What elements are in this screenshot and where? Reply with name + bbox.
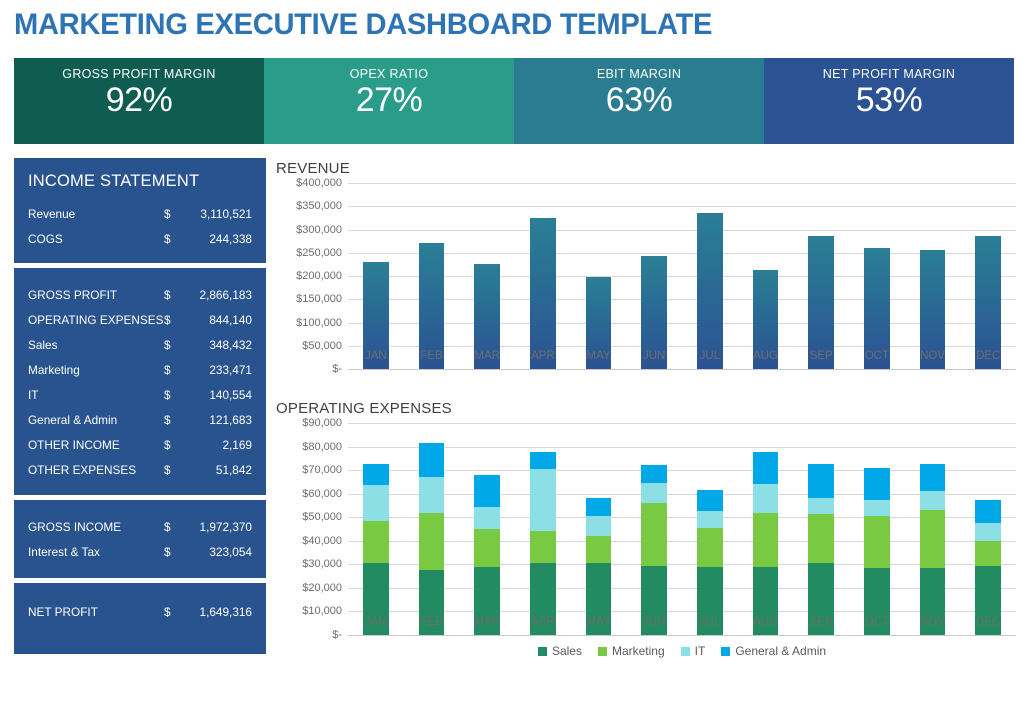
x-axis-label: JUL (682, 616, 738, 628)
row-label: Revenue (28, 207, 164, 221)
bar-segment-it (363, 485, 389, 520)
x-axis-label: MAR (459, 616, 515, 628)
row-currency: $ (164, 338, 178, 352)
row-amount: 121,683 (178, 413, 252, 427)
bar-slot (404, 183, 460, 369)
bar-segment-it (753, 484, 779, 512)
stacked-bar[interactable] (530, 452, 556, 635)
x-axis-label: NOV (905, 616, 961, 628)
income-statement-row: COGS$244,338 (28, 226, 252, 251)
income-statement-row: Marketing$233,471 (28, 357, 252, 382)
income-statement-group-2: GROSS PROFIT$2,866,183OPERATING EXPENSES… (14, 268, 266, 495)
income-statement-row: OTHER INCOME$2,169 (28, 432, 252, 457)
opex-x-axis: JANFEBMARAPRMAYJUNJULAUGSEPOCTNOVDEC (348, 616, 1016, 628)
gridline (348, 369, 1016, 370)
kpi-value: 53% (856, 83, 923, 119)
x-axis-label: MAY (571, 616, 627, 628)
income-statement-group-1: INCOME STATEMENTRevenue$3,110,521COGS$24… (14, 158, 266, 263)
x-axis-label: AUG (738, 616, 794, 628)
bar-jul[interactable] (697, 213, 723, 369)
y-tick-label: $150,000 (296, 293, 342, 305)
bar-segment-general-admin (363, 464, 389, 485)
y-tick-label: $70,000 (302, 464, 342, 476)
bar-segment-it (864, 500, 890, 516)
kpi-value: 27% (356, 83, 423, 119)
bar-segment-it (641, 483, 667, 503)
y-axis-labels: $-$50,000$100,000$150,000$200,000$250,00… (276, 183, 348, 369)
bar-segment-it (530, 469, 556, 531)
row-amount: 844,140 (178, 313, 252, 327)
dashboard-root: MARKETING EXECUTIVE DASHBOARD TEMPLATE G… (0, 0, 1027, 717)
y-tick-label: $250,000 (296, 247, 342, 259)
row-amount: 348,432 (178, 338, 252, 352)
y-tick-label: $350,000 (296, 200, 342, 212)
bar-segment-it (474, 507, 500, 529)
legend-item[interactable]: Sales (538, 644, 582, 658)
row-currency: $ (164, 207, 178, 221)
stacked-bar[interactable] (753, 452, 779, 635)
bar-segment-general-admin (920, 464, 946, 491)
income-statement-row: OPERATING EXPENSES$844,140 (28, 307, 252, 332)
legend-swatch (538, 647, 547, 656)
bar-apr[interactable] (530, 218, 556, 369)
x-axis-label: FEB (404, 616, 460, 628)
income-statement-group-4: NET PROFIT$1,649,316 (14, 583, 266, 654)
row-currency: $ (164, 463, 178, 477)
revenue-chart: REVENUE $-$50,000$100,000$150,000$200,00… (276, 160, 1016, 392)
bar-slot (682, 423, 738, 635)
gridline (348, 635, 1016, 636)
y-tick-label: $50,000 (302, 340, 342, 352)
stacked-bar[interactable] (864, 468, 890, 635)
legend-label: Sales (552, 644, 582, 658)
bar-slot (793, 183, 849, 369)
y-tick-label: $10,000 (302, 605, 342, 617)
row-amount: 1,649,316 (178, 605, 252, 619)
bar-slot (571, 423, 627, 635)
stacked-bar[interactable] (641, 465, 667, 635)
legend-label: General & Admin (735, 644, 826, 658)
y-tick-label: $400,000 (296, 177, 342, 189)
page-title: MARKETING EXECUTIVE DASHBOARD TEMPLATE (14, 8, 712, 42)
income-statement-title: INCOME STATEMENT (28, 172, 252, 191)
x-axis-label: JAN (348, 350, 404, 362)
bar-slot (348, 183, 404, 369)
bar-slot (738, 423, 794, 635)
x-axis-label: JUN (626, 616, 682, 628)
bar-slot (905, 423, 961, 635)
row-amount: 140,554 (178, 388, 252, 402)
bar-segment-general-admin (808, 464, 834, 498)
y-tick-label: $60,000 (302, 488, 342, 500)
row-currency: $ (164, 363, 178, 377)
income-statement-group-3: GROSS INCOME$1,972,370Interest & Tax$323… (14, 500, 266, 578)
kpi-label: OPEX RATIO (350, 67, 428, 81)
bar-slot (571, 183, 627, 369)
bar-segment-marketing (808, 514, 834, 563)
operating-expenses-chart: OPERATING EXPENSES $-$10,000$20,000$30,0… (276, 400, 1016, 685)
opex-legend: SalesMarketingITGeneral & Admin (348, 644, 1016, 658)
bar-slot (515, 183, 571, 369)
bar-segment-it (697, 511, 723, 527)
income-statement-panel: INCOME STATEMENTRevenue$3,110,521COGS$24… (14, 158, 266, 654)
kpi-label: GROSS PROFIT MARGIN (62, 67, 215, 81)
income-statement-row: Sales$348,432 (28, 332, 252, 357)
x-axis-label: SEP (793, 350, 849, 362)
legend-swatch (721, 647, 730, 656)
row-amount: 2,169 (178, 438, 252, 452)
bars-container (348, 183, 1016, 369)
bar-segment-it (920, 491, 946, 510)
kpi-value: 63% (606, 83, 673, 119)
row-currency: $ (164, 313, 178, 327)
bar-segment-general-admin (641, 465, 667, 483)
kpi-value: 92% (106, 83, 173, 119)
bar-slot (849, 423, 905, 635)
bar-slot (793, 423, 849, 635)
bar-sep[interactable] (808, 236, 834, 369)
bar-segment-marketing (530, 531, 556, 563)
row-label: Sales (28, 338, 164, 352)
row-amount: 2,866,183 (178, 288, 252, 302)
income-statement-row: General & Admin$121,683 (28, 407, 252, 432)
income-statement-row: Interest & Tax$323,054 (28, 539, 252, 564)
bar-segment-marketing (586, 536, 612, 563)
y-tick-label: $80,000 (302, 441, 342, 453)
x-axis-label: JAN (348, 616, 404, 628)
x-axis-label: SEP (793, 616, 849, 628)
y-tick-label: $50,000 (302, 511, 342, 523)
bar-slot (849, 183, 905, 369)
row-amount: 51,842 (178, 463, 252, 477)
stacked-bar[interactable] (474, 475, 500, 635)
row-currency: $ (164, 388, 178, 402)
bar-slot (682, 183, 738, 369)
x-axis-label: DEC (960, 350, 1016, 362)
bar-slot (404, 423, 460, 635)
row-label: IT (28, 388, 164, 402)
bar-segment-it (808, 498, 834, 513)
legend-item[interactable]: Marketing (598, 644, 665, 658)
bar-slot (626, 423, 682, 635)
row-amount: 1,972,370 (178, 520, 252, 534)
income-statement-row: GROSS PROFIT$2,866,183 (28, 282, 252, 307)
row-label: General & Admin (28, 413, 164, 427)
x-axis-label: DEC (960, 616, 1016, 628)
bar-segment-it (419, 477, 445, 512)
row-label: COGS (28, 232, 164, 246)
row-label: Marketing (28, 363, 164, 377)
revenue-plot-area: $-$50,000$100,000$150,000$200,000$250,00… (276, 183, 1016, 369)
bars-container (348, 423, 1016, 635)
bar-segment-general-admin (753, 452, 779, 484)
x-axis-label: JUL (682, 350, 738, 362)
x-axis-label: APR (515, 350, 571, 362)
x-axis-label: MAY (571, 350, 627, 362)
x-axis-label: FEB (404, 350, 460, 362)
kpi-card-row: GROSS PROFIT MARGIN92%OPEX RATIO27%EBIT … (14, 58, 1014, 144)
bar-segment-marketing (641, 503, 667, 565)
opex-plot-area: $-$10,000$20,000$30,000$40,000$50,000$60… (276, 423, 1016, 635)
row-currency: $ (164, 520, 178, 534)
y-tick-label: $90,000 (302, 417, 342, 429)
row-label: OTHER INCOME (28, 438, 164, 452)
kpi-card-1[interactable]: GROSS PROFIT MARGIN92% (14, 58, 264, 144)
y-tick-label: $- (332, 363, 342, 375)
legend-label: IT (695, 644, 706, 658)
y-tick-label: $100,000 (296, 317, 342, 329)
bar-segment-general-admin (530, 452, 556, 468)
stacked-bar[interactable] (975, 500, 1001, 635)
bar-segment-general-admin (474, 475, 500, 507)
y-tick-label: $300,000 (296, 224, 342, 236)
y-tick-label: $200,000 (296, 270, 342, 282)
bar-segment-marketing (864, 516, 890, 568)
legend-item[interactable]: IT (681, 644, 706, 658)
kpi-label: NET PROFIT MARGIN (823, 67, 955, 81)
bar-segment-marketing (363, 521, 389, 563)
stacked-bar[interactable] (920, 464, 946, 635)
bar-slot (348, 423, 404, 635)
row-currency: $ (164, 438, 178, 452)
y-tick-label: $- (332, 629, 342, 641)
bar-segment-general-admin (975, 500, 1001, 524)
row-amount: 323,054 (178, 545, 252, 559)
y-tick-label: $40,000 (302, 535, 342, 547)
stacked-bar[interactable] (363, 464, 389, 635)
bar-slot (459, 423, 515, 635)
bar-segment-marketing (920, 510, 946, 568)
stacked-bar[interactable] (808, 464, 834, 635)
kpi-card-4[interactable]: NET PROFIT MARGIN53% (764, 58, 1014, 144)
bar-slot (515, 423, 571, 635)
y-tick-label: $30,000 (302, 558, 342, 570)
legend-label: Marketing (612, 644, 665, 658)
income-statement-row: NET PROFIT$1,649,316 (28, 599, 252, 624)
row-amount: 3,110,521 (178, 207, 252, 221)
row-label: OPERATING EXPENSES (28, 313, 164, 327)
stacked-bar[interactable] (419, 443, 445, 635)
row-currency: $ (164, 545, 178, 559)
stacked-bar[interactable] (697, 490, 723, 635)
income-statement-row: GROSS INCOME$1,972,370 (28, 514, 252, 539)
kpi-label: EBIT MARGIN (597, 67, 681, 81)
stacked-bar[interactable] (586, 498, 612, 635)
row-currency: $ (164, 605, 178, 619)
row-amount: 233,471 (178, 363, 252, 377)
bar-segment-marketing (975, 541, 1001, 566)
bar-segment-it (586, 516, 612, 536)
row-label: NET PROFIT (28, 605, 164, 619)
row-currency: $ (164, 413, 178, 427)
bar-segment-general-admin (864, 468, 890, 500)
bar-slot (905, 183, 961, 369)
x-axis-label: AUG (738, 350, 794, 362)
bar-segment-marketing (697, 528, 723, 567)
bar-slot (459, 183, 515, 369)
row-currency: $ (164, 288, 178, 302)
row-label: OTHER EXPENSES (28, 463, 164, 477)
x-axis-label: NOV (905, 350, 961, 362)
bar-segment-general-admin (586, 498, 612, 516)
revenue-x-axis: JANFEBMARAPRMAYJUNJULAUGSEPOCTNOVDEC (348, 350, 1016, 362)
row-amount: 244,338 (178, 232, 252, 246)
kpi-card-3[interactable]: EBIT MARGIN63% (514, 58, 764, 144)
row-label: GROSS INCOME (28, 520, 164, 534)
row-label: GROSS PROFIT (28, 288, 164, 302)
legend-swatch (681, 647, 690, 656)
bar-segment-marketing (419, 513, 445, 571)
bar-slot (738, 183, 794, 369)
y-tick-label: $20,000 (302, 582, 342, 594)
bar-segment-general-admin (697, 490, 723, 511)
income-statement-row: IT$140,554 (28, 382, 252, 407)
revenue-chart-title: REVENUE (276, 160, 1016, 177)
bar-segment-marketing (753, 513, 779, 567)
bar-segment-marketing (474, 529, 500, 567)
x-axis-label: APR (515, 616, 571, 628)
y-axis-labels: $-$10,000$20,000$30,000$40,000$50,000$60… (276, 423, 348, 635)
bar-slot (626, 183, 682, 369)
bar-slot (960, 423, 1016, 635)
x-axis-label: OCT (849, 616, 905, 628)
row-currency: $ (164, 232, 178, 246)
kpi-card-2[interactable]: OPEX RATIO27% (264, 58, 514, 144)
legend-item[interactable]: General & Admin (721, 644, 826, 658)
legend-swatch (598, 647, 607, 656)
bar-segment-it (975, 523, 1001, 541)
x-axis-label: OCT (849, 350, 905, 362)
x-axis-label: MAR (459, 350, 515, 362)
bar-segment-general-admin (419, 443, 445, 477)
x-axis-label: JUN (626, 350, 682, 362)
income-statement-row: OTHER EXPENSES$51,842 (28, 457, 252, 482)
opex-chart-title: OPERATING EXPENSES (276, 400, 1016, 417)
row-label: Interest & Tax (28, 545, 164, 559)
income-statement-row: Revenue$3,110,521 (28, 201, 252, 226)
bar-slot (960, 183, 1016, 369)
